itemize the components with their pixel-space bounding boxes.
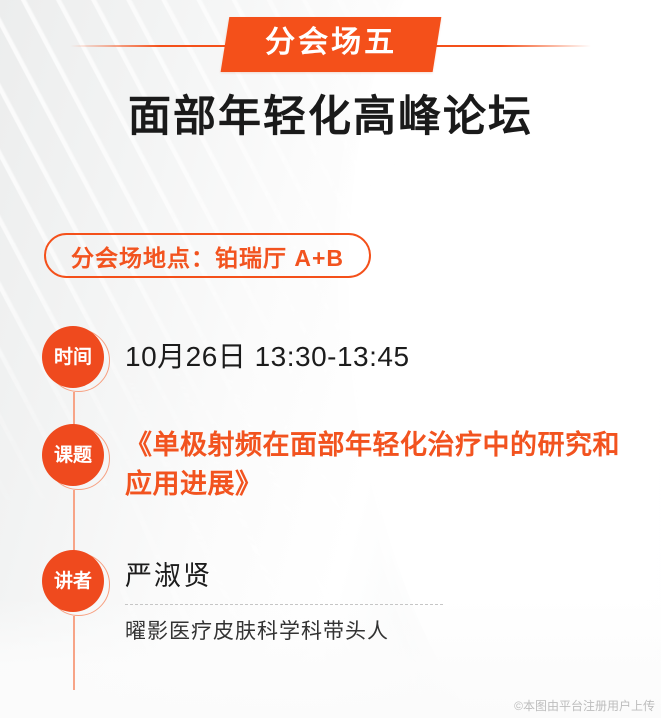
speaker-row-body: 严淑贤 曜影医疗皮肤科学科带头人 xyxy=(125,550,647,645)
speaker-affiliation: 曜影医疗皮肤科学科带头人 xyxy=(125,618,647,645)
speaker-name: 严淑贤 xyxy=(125,550,647,594)
time-badge-label: 时间 xyxy=(54,348,92,367)
speaker-divider xyxy=(125,604,443,605)
topic-badge-label: 课题 xyxy=(54,446,92,465)
speaker-badge-label: 讲者 xyxy=(54,572,92,591)
time-badge: 时间 xyxy=(42,326,114,392)
topic-value: 《单极射频在面部年轻化治疗中的研究和应用进展》 xyxy=(125,426,647,504)
badge-disc: 讲者 xyxy=(42,550,104,612)
speaker-badge: 讲者 xyxy=(42,550,114,616)
topic-badge: 课题 xyxy=(42,424,114,490)
session-poster: 分会场五 面部年轻化高峰论坛 分会场地点：铂瑞厅 A+B 时间 10月26日 1… xyxy=(0,0,661,718)
time-value: 10月26日 13:30-13:45 xyxy=(125,326,647,388)
info-rows: 时间 10月26日 13:30-13:45 课题 《单极射频在面部年轻化治疗中的… xyxy=(0,0,661,718)
watermark: ©本图由平台注册用户上传 xyxy=(514,697,655,714)
badge-disc: 课题 xyxy=(42,424,104,486)
time-row-body: 10月26日 13:30-13:45 xyxy=(125,326,647,388)
topic-row-body: 《单极射频在面部年轻化治疗中的研究和应用进展》 xyxy=(125,424,647,504)
badge-disc: 时间 xyxy=(42,326,104,388)
watermark-text: ©本图由平台注册用户上传 xyxy=(514,697,655,714)
